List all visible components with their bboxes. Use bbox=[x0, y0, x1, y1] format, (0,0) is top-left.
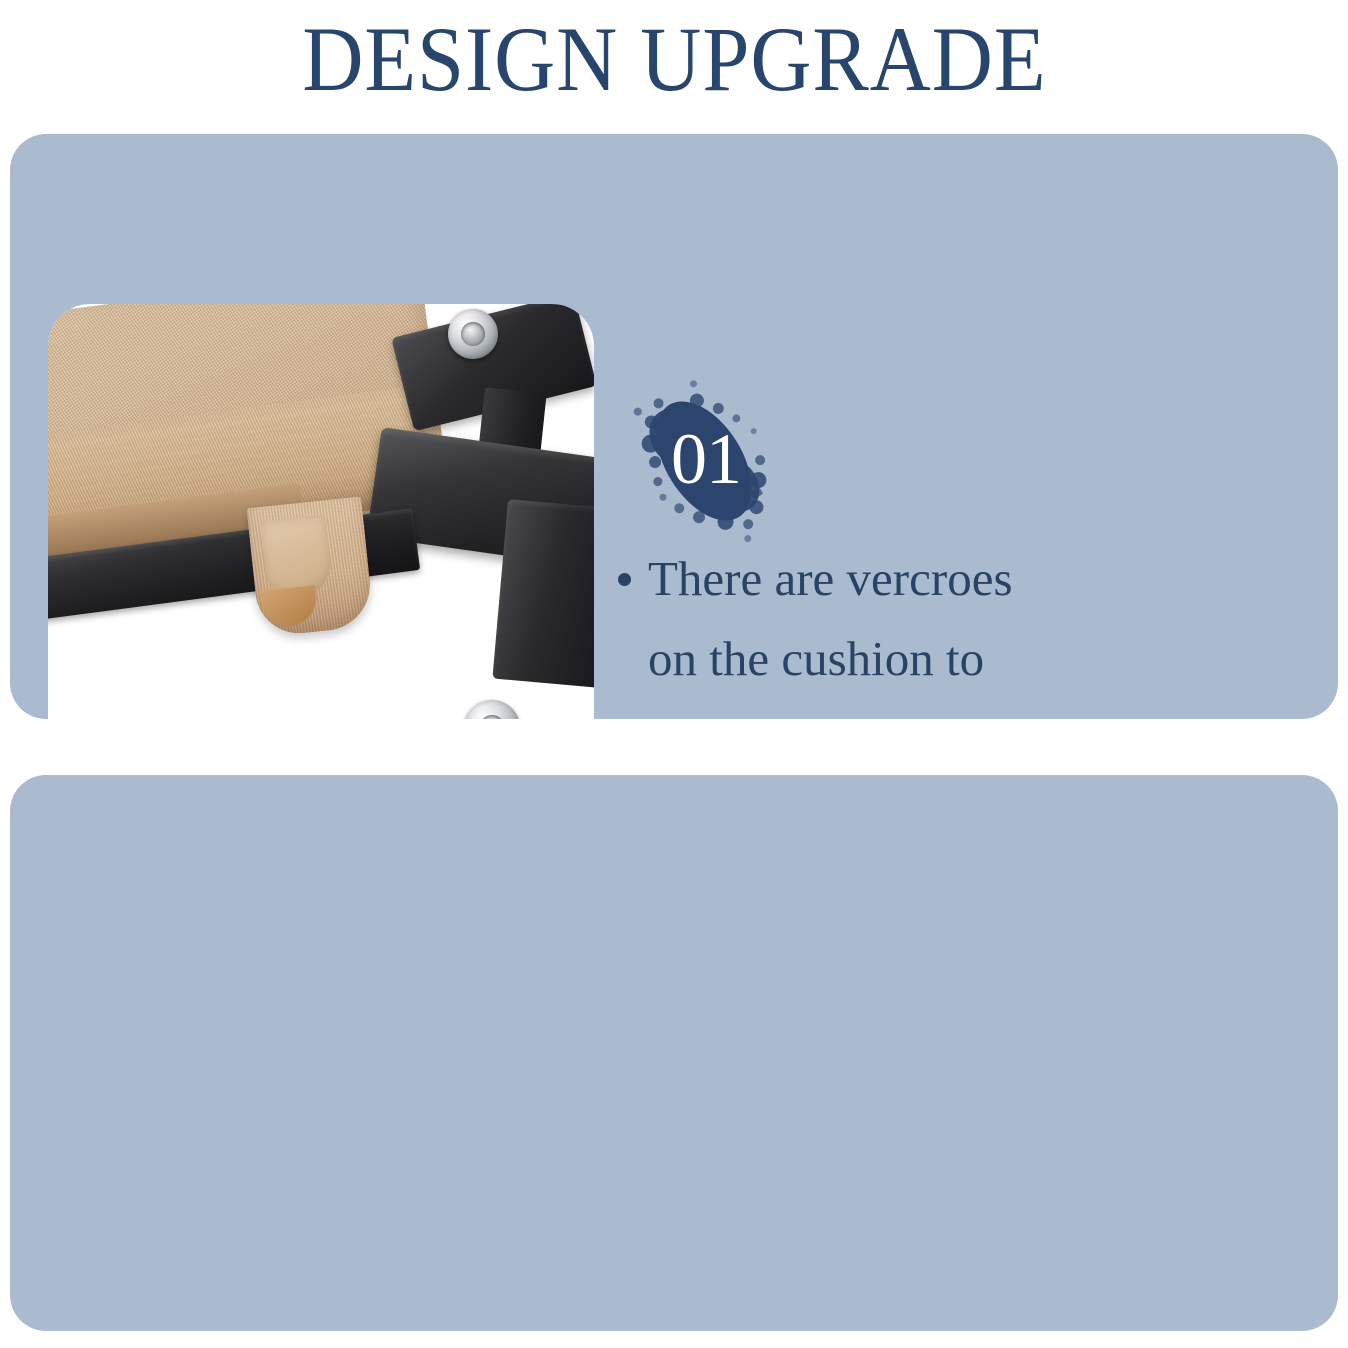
product-photo-velcro-cushion bbox=[48, 304, 594, 719]
feature-line: prevent the cushion from fall bbox=[610, 699, 1326, 719]
page-title-bar: DESIGN UPGRADE bbox=[0, 0, 1348, 118]
feature-line: on the cushion to bbox=[610, 619, 1326, 699]
step-number-label: 01 bbox=[606, 364, 806, 554]
photo-1-scene bbox=[48, 304, 594, 719]
step-number-badge-01: 01 bbox=[604, 366, 804, 556]
hex-bolt-lower-icon bbox=[464, 700, 520, 719]
frame-vertical-leg bbox=[492, 499, 594, 689]
page-title: DESIGN UPGRADE bbox=[302, 13, 1046, 105]
feature-text-01: There are vercroes on the cushion to pre… bbox=[610, 539, 1326, 719]
feature-panel-02: 02 Upgraded seat more durable bbox=[10, 775, 1338, 1331]
hex-bolt-upper-icon bbox=[448, 309, 498, 359]
feature-panel-01: 01 There are vercroes on the cushion to … bbox=[10, 134, 1338, 719]
